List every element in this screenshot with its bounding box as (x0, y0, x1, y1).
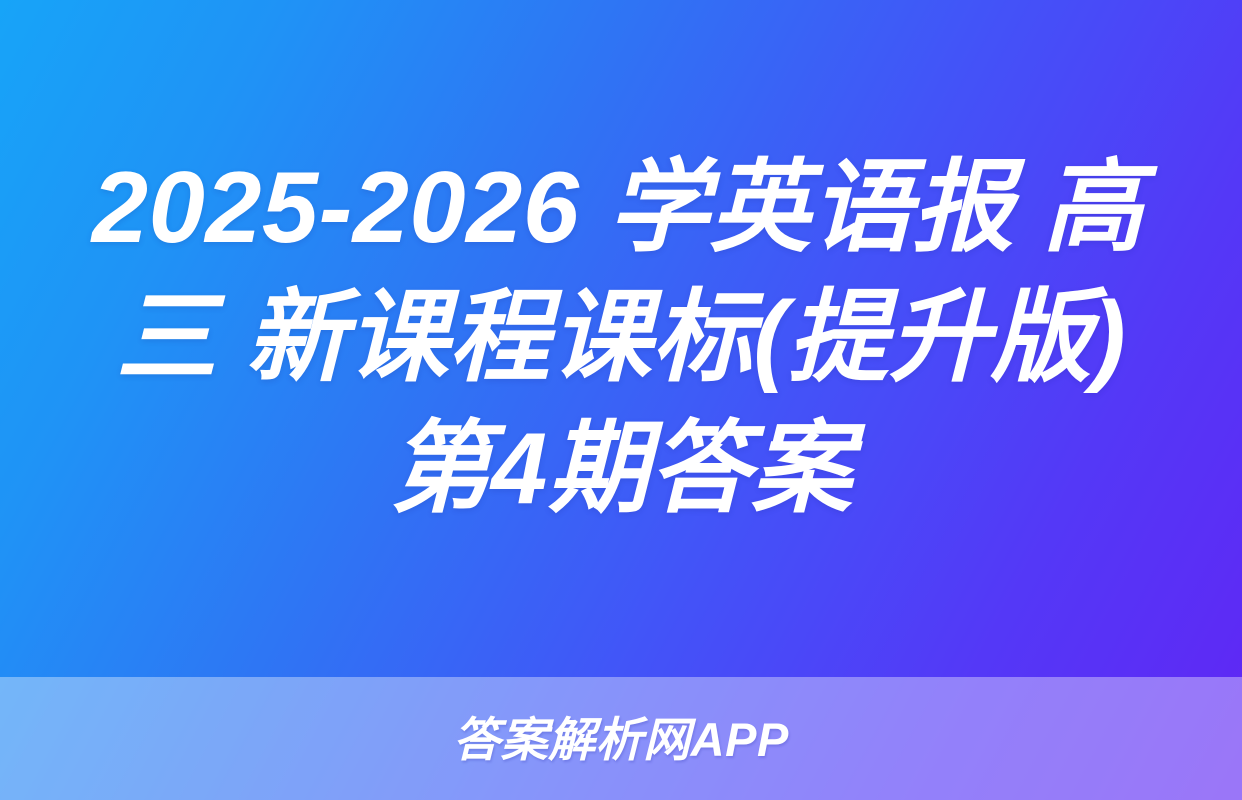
watermark-app-label: 答案解析网APP (453, 716, 789, 763)
headline-line-2: 三 新课程课标(提升版) (116, 273, 1126, 403)
answer-key-poster: 2025-2026 学英语报 高 三 新课程课标(提升版) 第4期答案 答案解析… (0, 0, 1242, 800)
headline-line-1: 2025-2026 学英语报 高 (92, 143, 1144, 273)
watermark-band: 答案解析网APP (0, 677, 1242, 800)
headline-line-3: 第4期答案 (390, 404, 853, 534)
headline-block: 2025-2026 学英语报 高 三 新课程课标(提升版) 第4期答案 (0, 0, 1242, 677)
